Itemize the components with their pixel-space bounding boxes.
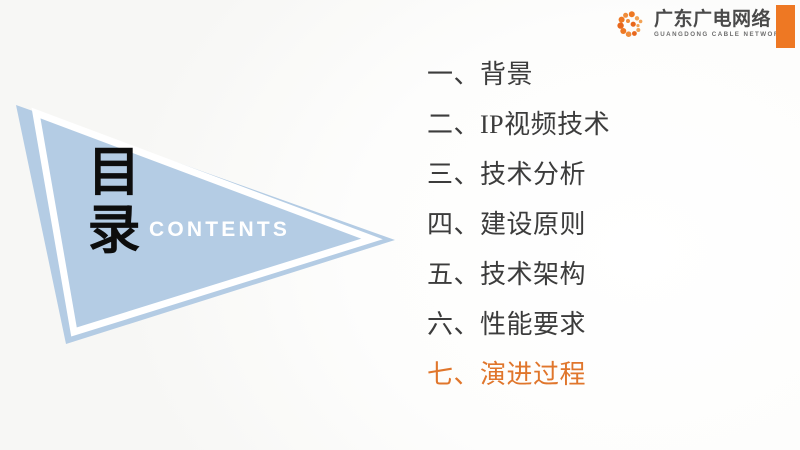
agenda-item-1[interactable]: 一、背景	[427, 50, 777, 100]
slide-contents: 目 录 CONTENTS	[0, 0, 800, 450]
contents-title-cn: 目 录	[78, 148, 150, 258]
brand-logo: 广东广电网络 GUANGDONG CABLE NETWORK	[617, 9, 786, 39]
agenda-item-6[interactable]: 六、性能要求	[427, 300, 777, 350]
contents-title-char-2: 录	[88, 206, 141, 258]
guangdong-cable-network-logo-icon	[617, 9, 647, 39]
brand-name-cn: 广东广电网络	[654, 10, 786, 29]
brand-name-en: GUANGDONG CABLE NETWORK	[654, 32, 786, 38]
contents-title-char-1: 目	[88, 148, 141, 200]
agenda-item-5[interactable]: 五、技术架构	[427, 250, 777, 300]
corner-accent-block	[776, 5, 795, 48]
brand-wordmark: 广东广电网络 GUANGDONG CABLE NETWORK	[654, 10, 786, 38]
agenda-item-7[interactable]: 七、演进过程	[427, 350, 777, 400]
agenda-item-2[interactable]: 二、IP视频技术	[427, 100, 777, 150]
agenda-item-3[interactable]: 三、技术分析	[427, 150, 777, 200]
agenda-item-4[interactable]: 四、建设原则	[427, 200, 777, 250]
contents-title-en: CONTENTS	[149, 218, 290, 242]
agenda-list: 一、背景 二、IP视频技术 三、技术分析 四、建设原则 五、技术架构 六、性能要…	[427, 50, 777, 400]
